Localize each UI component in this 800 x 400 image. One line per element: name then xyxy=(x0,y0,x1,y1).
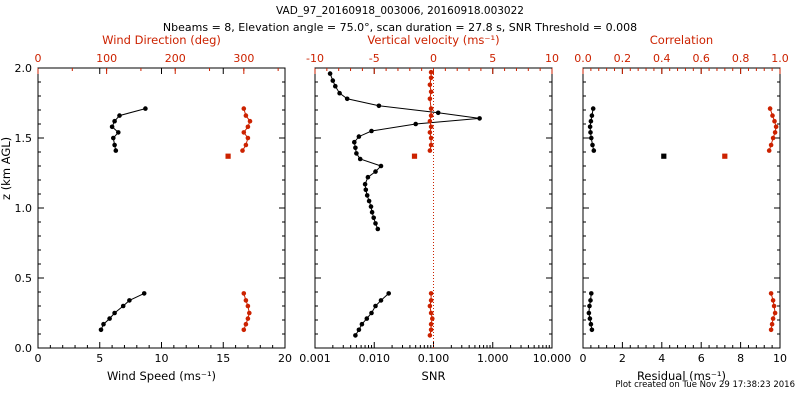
plot-canvas: 0510152001002003000.00.51.01.52.0Wind Sp… xyxy=(0,0,800,400)
data-point xyxy=(369,204,374,209)
x-tick-label: 0.001 xyxy=(299,352,331,365)
panel-1-xlabel: Wind Speed (ms⁻¹) xyxy=(107,369,216,383)
data-point xyxy=(369,129,374,134)
x-tick-label: 15 xyxy=(216,352,230,365)
data-point xyxy=(429,143,434,148)
data-point xyxy=(428,304,433,309)
data-point-square xyxy=(226,154,231,159)
data-point xyxy=(767,148,772,153)
x-top-tick-label: 10 xyxy=(545,52,559,65)
data-point xyxy=(587,304,592,309)
data-point xyxy=(127,298,132,303)
data-point-square xyxy=(722,154,727,159)
data-point xyxy=(369,311,374,316)
data-point xyxy=(589,119,594,124)
data-point xyxy=(429,125,434,130)
x-top-tick-label: 1.0 xyxy=(771,52,789,65)
data-point xyxy=(333,84,338,89)
data-point xyxy=(363,182,368,187)
data-point xyxy=(589,136,594,141)
data-point xyxy=(142,291,147,296)
data-point xyxy=(413,122,418,127)
x-top-tick-label: 5 xyxy=(489,52,496,65)
data-point xyxy=(354,151,359,156)
x-tick-label: 10 xyxy=(155,352,169,365)
data-point xyxy=(386,291,391,296)
data-point xyxy=(242,291,247,296)
data-point xyxy=(117,113,122,118)
data-point xyxy=(246,316,251,321)
data-point xyxy=(377,104,382,109)
data-point xyxy=(587,311,592,316)
data-point xyxy=(101,322,106,327)
data-point xyxy=(366,175,371,180)
data-point xyxy=(430,316,435,321)
data-point xyxy=(429,328,434,333)
data-point xyxy=(370,210,375,215)
data-point xyxy=(143,106,148,111)
data-point xyxy=(769,143,774,148)
data-point xyxy=(429,90,434,95)
data-point xyxy=(771,298,776,303)
data-point xyxy=(769,291,774,296)
data-point xyxy=(591,106,596,111)
data-point xyxy=(428,83,433,88)
data-point xyxy=(588,130,593,135)
x-top-tick-label: 0 xyxy=(35,52,42,65)
data-point xyxy=(768,106,773,111)
y-tick-label: 2.0 xyxy=(15,62,33,75)
data-point xyxy=(373,221,378,226)
data-point xyxy=(345,97,350,102)
data-point xyxy=(240,148,245,153)
data-point xyxy=(121,304,126,309)
data-point-square xyxy=(661,154,666,159)
x-tick-label: 2 xyxy=(619,352,626,365)
data-point xyxy=(357,328,362,333)
data-point xyxy=(429,136,434,141)
data-point xyxy=(770,113,775,118)
y-tick-label: 1.0 xyxy=(15,202,33,215)
data-point xyxy=(328,71,333,76)
data-point xyxy=(244,143,249,148)
data-point xyxy=(774,125,779,130)
x-tick-label: 8 xyxy=(737,352,744,365)
x-tick-label: 10.000 xyxy=(533,352,572,365)
data-point xyxy=(114,148,119,153)
data-point xyxy=(242,130,247,135)
data-point xyxy=(244,298,249,303)
data-point xyxy=(357,134,362,139)
data-point xyxy=(590,143,595,148)
data-point xyxy=(428,148,433,153)
x-top-tick-label: 0.0 xyxy=(574,52,592,65)
data-point xyxy=(246,125,251,130)
data-point xyxy=(429,298,434,303)
data-point xyxy=(429,106,434,111)
x-tick-label: 5 xyxy=(96,352,103,365)
x-tick-label: 0.100 xyxy=(418,352,450,365)
data-point xyxy=(337,91,342,96)
data-point xyxy=(331,78,336,83)
data-point xyxy=(111,136,116,141)
data-point xyxy=(112,311,117,316)
panel-3-xlabel-top: Correlation xyxy=(650,33,713,47)
data-point xyxy=(429,113,434,118)
data-point xyxy=(428,119,433,124)
x-top-tick-label: 100 xyxy=(96,52,117,65)
y-tick-label: 0.5 xyxy=(15,272,33,285)
data-point xyxy=(588,316,593,321)
data-point xyxy=(771,316,776,321)
data-point xyxy=(590,113,595,118)
x-top-tick-label: 0.6 xyxy=(692,52,710,65)
y-tick-label: 1.5 xyxy=(15,132,33,145)
data-point xyxy=(428,130,433,135)
data-point xyxy=(242,328,247,333)
data-point xyxy=(589,322,594,327)
x-top-tick-label: -10 xyxy=(306,52,324,65)
data-point xyxy=(107,316,112,321)
data-point xyxy=(373,304,378,309)
x-tick-label: 20 xyxy=(278,352,292,365)
data-point xyxy=(376,227,381,232)
data-point xyxy=(247,311,252,316)
x-top-tick-label: 0.8 xyxy=(732,52,750,65)
data-point xyxy=(769,328,774,333)
x-tick-label: 4 xyxy=(658,352,665,365)
data-point xyxy=(246,304,251,309)
x-tick-label: 6 xyxy=(698,352,705,365)
x-top-tick-label: 0.2 xyxy=(614,52,632,65)
data-point xyxy=(379,164,384,169)
data-point xyxy=(365,316,370,321)
data-point xyxy=(770,322,775,327)
data-point xyxy=(429,322,434,327)
data-point xyxy=(371,216,376,221)
data-point xyxy=(429,76,434,81)
data-point xyxy=(364,188,369,193)
data-point xyxy=(110,125,115,130)
x-top-tick-label: 0.4 xyxy=(653,52,671,65)
data-point xyxy=(772,119,777,124)
data-point xyxy=(242,106,247,111)
x-tick-label: 1.000 xyxy=(477,352,509,365)
x-tick-label: 10 xyxy=(773,352,787,365)
data-point xyxy=(428,97,433,102)
x-tick-label: 0.010 xyxy=(359,352,391,365)
data-point xyxy=(112,119,117,124)
data-point xyxy=(429,311,434,316)
data-point xyxy=(373,169,378,174)
y-tick-label: 0.0 xyxy=(15,342,33,355)
data-point xyxy=(352,140,357,145)
data-point xyxy=(360,322,365,327)
data-point xyxy=(429,291,434,296)
panel-3-xlabel: Residual (ms⁻¹) xyxy=(637,369,726,383)
data-point xyxy=(358,157,363,162)
data-point xyxy=(477,116,482,121)
data-point xyxy=(588,125,593,130)
panel-3-frame xyxy=(583,68,780,348)
data-point xyxy=(772,304,777,309)
x-top-tick-label: 300 xyxy=(233,52,254,65)
data-point xyxy=(592,148,597,153)
data-point xyxy=(246,136,251,141)
data-point xyxy=(248,119,253,124)
panel-1-xlabel-top: Wind Direction (deg) xyxy=(102,33,221,47)
data-point xyxy=(428,333,433,338)
panel-2-xlabel: SNR xyxy=(422,369,446,383)
x-top-tick-label: 0 xyxy=(430,52,437,65)
data-point xyxy=(99,328,104,333)
x-top-tick-label: 200 xyxy=(165,52,186,65)
data-point xyxy=(773,130,778,135)
data-point xyxy=(436,111,441,116)
data-point-square xyxy=(412,154,417,159)
data-point xyxy=(589,291,594,296)
x-top-tick-label: -5 xyxy=(369,52,380,65)
data-point xyxy=(116,130,121,135)
data-point xyxy=(367,199,372,204)
panel-2-xlabel-top: Vertical velocity (ms⁻¹) xyxy=(367,33,499,47)
data-point xyxy=(353,333,358,338)
x-tick-label: 0 xyxy=(580,352,587,365)
chart-figure: VAD_97_20160918_003006, 20160918.003022 … xyxy=(0,0,800,400)
data-point xyxy=(773,311,778,316)
x-tick-label: 0 xyxy=(35,352,42,365)
data-point xyxy=(112,143,117,148)
data-point xyxy=(379,298,384,303)
data-point xyxy=(244,113,249,118)
data-point xyxy=(244,322,249,327)
data-point xyxy=(588,298,593,303)
data-point xyxy=(353,146,358,151)
data-point xyxy=(590,328,595,333)
data-point xyxy=(771,136,776,141)
data-point xyxy=(365,193,370,198)
data-point xyxy=(429,70,434,75)
